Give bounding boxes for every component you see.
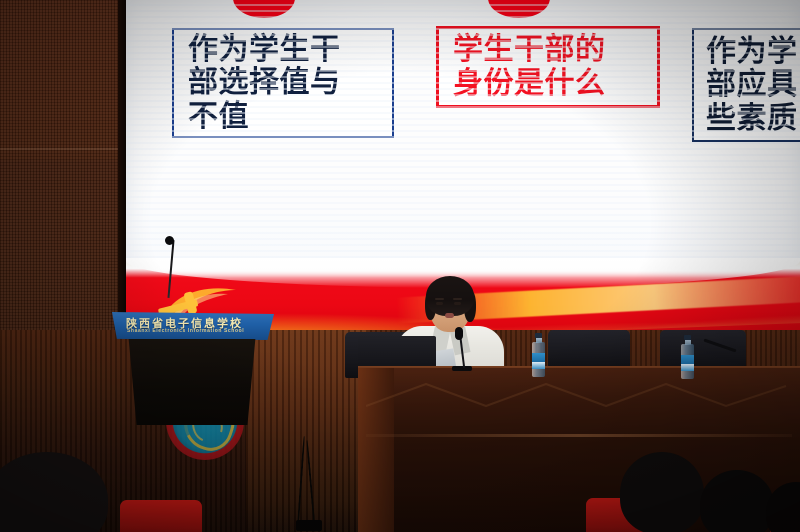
speaker-eyebrow-left — [435, 298, 444, 300]
table-horizontal-molding — [366, 434, 792, 437]
audience-head — [700, 470, 774, 532]
slide-decor-dot-1 — [233, 0, 295, 18]
desk-microphone-base — [452, 366, 472, 371]
audience-seat — [120, 500, 202, 532]
lectern-body — [126, 339, 258, 425]
water-bottle-icon — [681, 335, 694, 379]
bottle-label — [681, 355, 694, 371]
speaker-mouth — [445, 313, 454, 318]
table-zigzag-molding — [366, 380, 792, 410]
lectern-school-name-en: Shaanxi Electronics Information School — [127, 328, 272, 334]
photo-scene: 作为学生干 部选择值与 不值 学生干部的 身份是什么 作为学 部应具 些素质 — [0, 0, 800, 532]
water-bottle-icon — [532, 333, 545, 377]
microphone-icon — [455, 327, 463, 340]
bottle-label — [532, 353, 545, 369]
slide-text-box-2-label: 学生干部的 身份是什么 — [453, 33, 606, 100]
speaker-eye-left — [436, 302, 443, 305]
cable-floor-box — [296, 520, 322, 531]
speaker-eyebrow-right — [453, 298, 462, 300]
speaker-hair — [426, 276, 474, 316]
slide-text-box-3-label: 作为学 部应具 些素质 — [706, 35, 798, 136]
speaker-eye-right — [454, 302, 461, 305]
audience-head — [620, 452, 704, 532]
floor-microphone-head-icon — [165, 236, 174, 245]
left-wall-panel — [0, 0, 126, 352]
slide-text-box-3: 作为学 部应具 些素质 — [692, 28, 800, 142]
projection-screen: 作为学生干 部选择值与 不值 学生干部的 身份是什么 作为学 部应具 些素质 — [126, 0, 800, 300]
slide-text-box-1: 作为学生干 部选择值与 不值 — [172, 28, 394, 138]
slide-text-box-1-label: 作为学生干 部选择值与 不值 — [188, 33, 341, 134]
slide-decor-dot-2 — [488, 0, 550, 18]
lectern: 陕西省电子信息学校 Shaanxi Electronics Informatio… — [112, 312, 274, 424]
slide-text-box-2: 学生干部的 身份是什么 — [436, 26, 660, 108]
